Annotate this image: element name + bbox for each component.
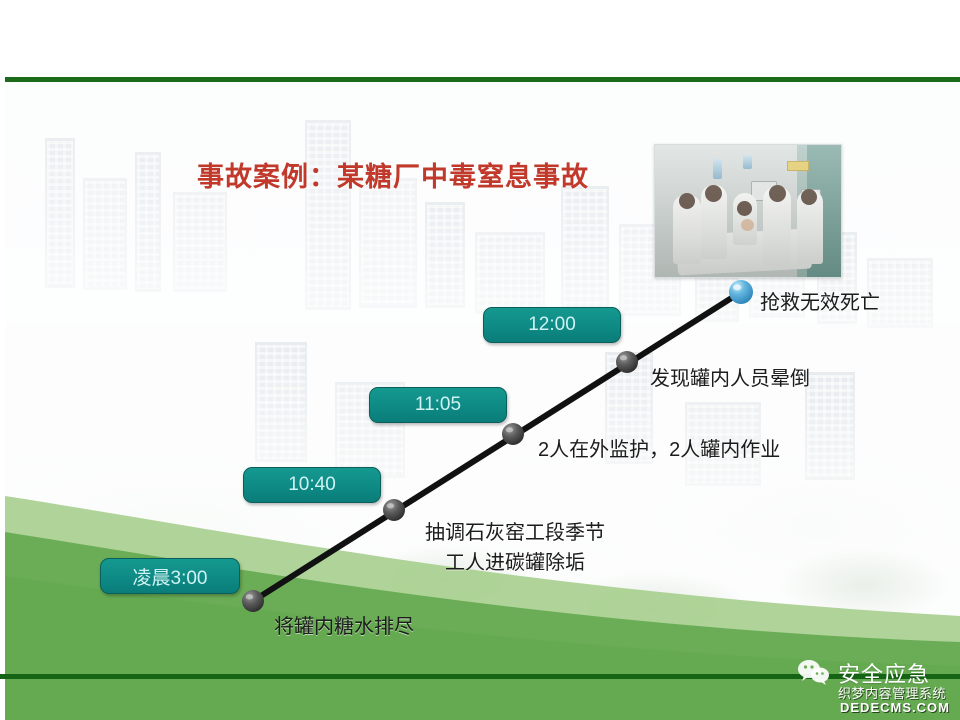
top-divider-rule bbox=[5, 77, 960, 82]
hospital-emergency-photo bbox=[654, 144, 842, 278]
timeline-time-badge: 10:40 bbox=[243, 467, 381, 503]
timeline-event-label: 抽调石灰窑工段季节工人进碳罐除垢 bbox=[425, 518, 605, 578]
watermark-en: DEDECMS.COM bbox=[840, 700, 950, 715]
timeline-event-label: 将罐内糖水排尽 bbox=[274, 612, 414, 642]
timeline-event-line2: 工人进碳罐除垢 bbox=[425, 548, 605, 578]
page-title: 事故案例：某糖厂中毒窒息事故 bbox=[197, 155, 589, 194]
wechat-icon bbox=[797, 659, 831, 687]
timeline-event-line1: 将罐内糖水排尽 bbox=[274, 612, 414, 642]
timeline-event-line1: 发现罐内人员晕倒 bbox=[650, 364, 810, 394]
timeline-event-label: 抢救无效死亡 bbox=[760, 288, 880, 318]
presentation-slide: 事故案例：某糖厂中毒窒息事故 bbox=[0, 0, 960, 720]
timeline-event-label: 发现罐内人员晕倒 bbox=[650, 364, 810, 394]
timeline-event-line1: 抽调石灰窑工段季节 bbox=[425, 518, 605, 548]
timeline-event-line1: 抢救无效死亡 bbox=[760, 288, 880, 318]
timeline-event-line1: 2人在外监护，2人罐内作业 bbox=[538, 435, 780, 465]
timeline-time-badge: 12:00 bbox=[483, 307, 621, 343]
timeline-time-badge: 凌晨3:00 bbox=[100, 558, 240, 594]
timeline-event-label: 2人在外监护，2人罐内作业 bbox=[538, 435, 780, 465]
timeline-time-badge: 11:05 bbox=[369, 387, 507, 423]
